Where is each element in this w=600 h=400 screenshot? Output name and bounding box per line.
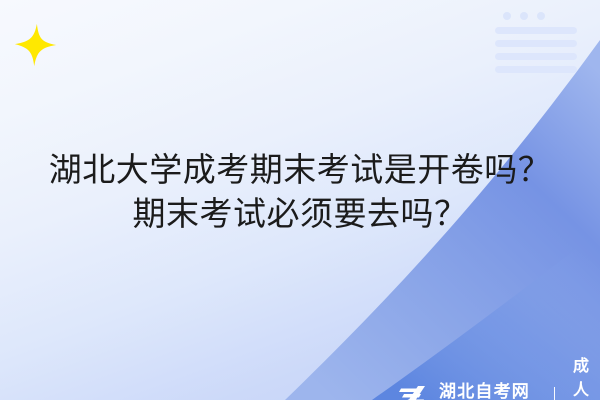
document-bar: [495, 66, 577, 73]
sparkle-star-icon: [14, 22, 58, 68]
document-lines-icon: [495, 12, 585, 68]
document-bar: [495, 53, 577, 60]
hbzkw-z-mark-icon: [398, 385, 430, 400]
document-dot: [520, 12, 528, 20]
headline-line-2: 期末考试必须要去吗？: [0, 192, 600, 236]
document-dot: [503, 12, 511, 20]
headline-line-1: 湖北大学成考期末考试是开卷吗？: [0, 148, 600, 192]
document-bar: [495, 40, 577, 47]
poster-canvas: 湖北大学成考期末考试是开卷吗？ 期末考试必须要去吗？ 湖北自考网 www.hbz…: [0, 0, 600, 400]
logo-text-block: 湖北自考网 www.hbzkw.com: [439, 384, 538, 400]
logo-tagline: 成人高考: [573, 352, 600, 400]
logo-name: 湖北自考网: [439, 384, 538, 400]
logo-divider: [554, 387, 555, 400]
headline: 湖北大学成考期末考试是开卷吗？ 期末考试必须要去吗？: [0, 148, 600, 236]
site-logo[interactable]: 湖北自考网 www.hbzkw.com 成人高考: [398, 352, 600, 400]
document-dot: [537, 12, 545, 20]
document-bar: [495, 27, 577, 34]
document-dots: [495, 12, 585, 20]
